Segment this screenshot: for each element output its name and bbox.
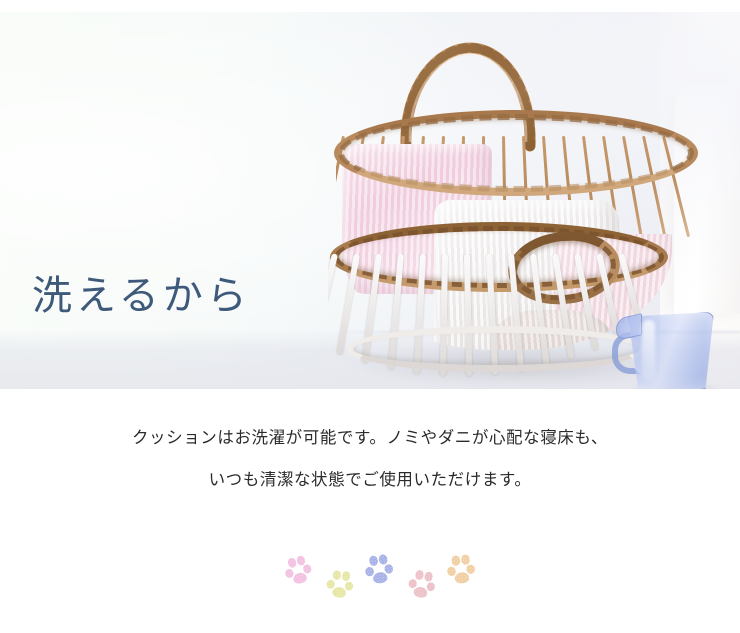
paw-print-icon bbox=[274, 546, 322, 594]
description-line-1: クッションはお洗濯が可能です。ノミやダニが心配な寝床も、 bbox=[0, 418, 740, 460]
description-text: クッションはお洗濯が可能です。ノミやダニが心配な寝床も、 いつも清潔な状態でご使… bbox=[0, 418, 740, 501]
page-root: 洗えるから いつも清潔。 クッションはお洗濯が可能です。ノミやダニが心配な寝床も… bbox=[0, 0, 740, 633]
basket-bottom-rim bbox=[346, 326, 646, 372]
paw-print-icon bbox=[318, 562, 362, 606]
hero-banner: 洗えるから いつも清潔。 bbox=[0, 12, 740, 389]
hero-headline: 洗えるから いつも清潔。 bbox=[32, 148, 296, 389]
headline-line-1: 洗えるから bbox=[32, 266, 296, 325]
basket-top-rim-twist bbox=[338, 114, 694, 192]
blue-measuring-pitcher bbox=[614, 308, 720, 389]
description-line-2: いつも清潔な状態でご使用いただけます。 bbox=[0, 460, 740, 502]
paw-print-icon bbox=[399, 561, 445, 607]
paw-print-icon bbox=[355, 545, 402, 592]
paw-print-icon bbox=[438, 546, 484, 592]
pitcher-highlight bbox=[642, 320, 655, 380]
paw-print-divider bbox=[0, 548, 740, 610]
